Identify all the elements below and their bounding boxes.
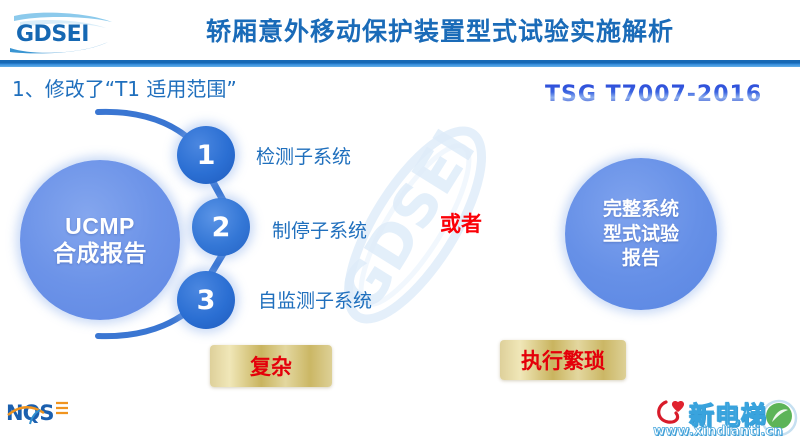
slide-canvas: GDSEI 轿厢意外移动保护装置型式试验实施解析 1、修改了“T1 适用范围” … [0,0,800,446]
alternative-connector-text: 或者 [440,208,482,238]
callout-tedious[interactable]: 执行繁琐 [500,340,626,380]
section-heading: 1、修改了“T1 适用范围” [12,73,237,102]
node-full-system-line3: 报告 [603,246,679,271]
page-title: 轿厢意外移动保护装置型式试验实施解析 [140,12,740,48]
svg-text:GDSEI: GDSEI [16,22,89,47]
node-step-1-number: 1 [197,140,216,171]
node-ucmp-line1: UCMP [53,212,147,240]
xindianti-url: www.xindianti.cn [653,424,783,439]
node-full-system-line2: 型式试验 [603,222,679,247]
label-step-1: 检测子系统 [256,142,351,169]
node-full-system-report[interactable]: 完整系统 型式试验 报告 [565,158,717,310]
node-step-1[interactable]: 1 [177,126,235,184]
node-full-system-line1: 完整系统 [603,197,679,222]
node-step-3[interactable]: 3 [177,271,235,329]
callout-complex-label: 复杂 [250,351,292,381]
gdsei-logo: GDSEI [8,8,118,56]
callout-tedious-label: 执行繁琐 [521,345,605,375]
label-step-3: 自监测子系统 [258,286,372,313]
node-ucmp-line2: 合成报告 [53,240,147,268]
header-divider [0,60,800,67]
nqs-logo: NQS [6,396,72,428]
node-step-2[interactable]: 2 [192,198,250,256]
node-step-2-number: 2 [212,212,231,243]
label-step-2: 制停子系统 [272,216,367,243]
node-ucmp-report[interactable]: UCMP 合成报告 [20,160,180,320]
callout-complex[interactable]: 复杂 [210,345,332,387]
process-diagram: UCMP 合成报告 1 2 3 检测子系统 制停子系统 自监测子系统 或者 完整… [0,100,800,350]
node-step-3-number: 3 [197,285,216,316]
